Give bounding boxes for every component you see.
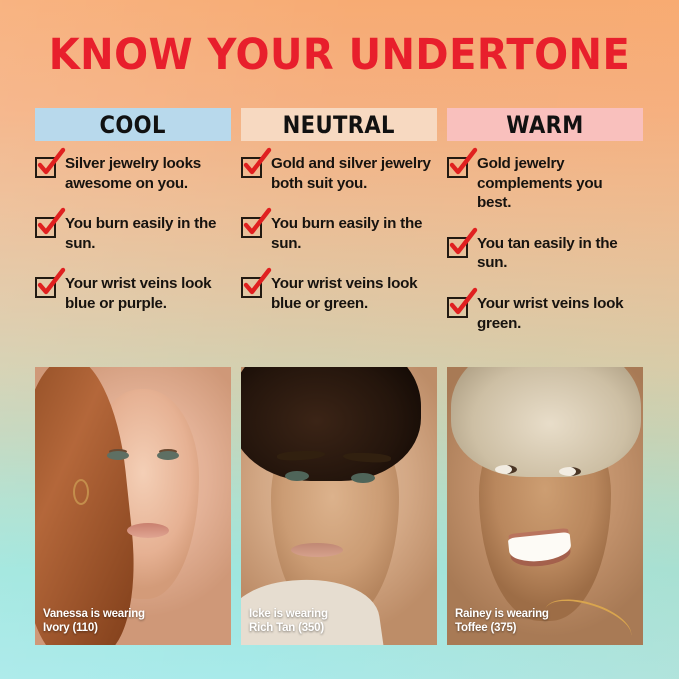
model-photos: Vanessa is wearing Ivory (110) Icke is w…: [35, 367, 644, 645]
column-cool: COOL Silver jewelry looks awesome on you…: [35, 108, 231, 354]
model-photo-rainey: Rainey is wearing Toffee (375): [447, 367, 643, 645]
checkbox-checked-icon[interactable]: [447, 157, 468, 178]
checklist-cool: Silver jewelry looks awesome on you. You…: [35, 154, 231, 314]
photo-caption-line2: Toffee (375): [455, 621, 549, 635]
checkbox-checked-icon[interactable]: [35, 217, 56, 238]
lips: [127, 523, 169, 538]
model-photo-icke: Icke is wearing Rich Tan (350): [241, 367, 437, 645]
column-warm: WARM Gold jewelry complements you best. …: [447, 108, 643, 354]
list-item[interactable]: Your wrist veins look green.: [447, 294, 643, 333]
list-item[interactable]: Your wrist veins look blue or purple.: [35, 274, 231, 313]
lips: [291, 543, 343, 557]
photo-caption: Vanessa is wearing Ivory (110): [43, 607, 145, 635]
list-item[interactable]: You tan easily in the sun.: [447, 234, 643, 273]
list-item[interactable]: You burn easily in the sun.: [35, 214, 231, 253]
list-item-text: Your wrist veins look blue or green.: [271, 274, 434, 313]
eye-left: [285, 471, 309, 481]
column-header-warm: WARM: [447, 108, 643, 141]
photo-caption: Rainey is wearing Toffee (375): [455, 607, 549, 635]
checkbox-checked-icon[interactable]: [447, 297, 468, 318]
undertone-columns: COOL Silver jewelry looks awesome on you…: [35, 108, 644, 354]
eye-left: [107, 451, 129, 460]
checkbox-checked-icon[interactable]: [35, 277, 56, 298]
photo-caption-line2: Rich Tan (350): [249, 621, 328, 635]
eye-right: [559, 467, 581, 476]
list-item[interactable]: Gold and silver jewelry both suit you.: [241, 154, 437, 193]
checklist-neutral: Gold and silver jewelry both suit you. Y…: [241, 154, 437, 314]
list-item-text: You burn easily in the sun.: [65, 214, 228, 253]
hair: [241, 367, 421, 481]
photo-caption-line2: Ivory (110): [43, 621, 145, 635]
photo-caption: Icke is wearing Rich Tan (350): [249, 607, 328, 635]
column-header-cool: COOL: [35, 108, 231, 141]
list-item-text: Your wrist veins look green.: [477, 294, 640, 333]
list-item-text: Gold jewelry complements you best.: [477, 154, 640, 213]
model-photo-vanessa: Vanessa is wearing Ivory (110): [35, 367, 231, 645]
checkbox-checked-icon[interactable]: [241, 157, 262, 178]
column-header-neutral: NEUTRAL: [241, 108, 437, 141]
eye-left: [495, 465, 517, 474]
eye-right: [157, 451, 179, 460]
list-item[interactable]: Silver jewelry looks awesome on you.: [35, 154, 231, 193]
hair: [451, 367, 641, 477]
list-item[interactable]: You burn easily in the sun.: [241, 214, 437, 253]
column-neutral: NEUTRAL Gold and silver jewelry both sui…: [241, 108, 437, 354]
checkbox-checked-icon[interactable]: [241, 217, 262, 238]
list-item[interactable]: Gold jewelry complements you best.: [447, 154, 643, 213]
photo-caption-line1: Vanessa is wearing: [43, 607, 145, 621]
checkbox-checked-icon[interactable]: [241, 277, 262, 298]
eye-right: [351, 473, 375, 483]
photo-caption-line1: Rainey is wearing: [455, 607, 549, 621]
column-header-cool-label: COOL: [100, 111, 166, 139]
list-item-text: Silver jewelry looks awesome on you.: [65, 154, 228, 193]
checklist-warm: Gold jewelry complements you best. You t…: [447, 154, 643, 333]
photo-caption-line1: Icke is wearing: [249, 607, 328, 621]
checkbox-checked-icon[interactable]: [447, 237, 468, 258]
hoop-earring: [73, 479, 89, 505]
checkbox-checked-icon[interactable]: [35, 157, 56, 178]
column-header-warm-label: WARM: [506, 111, 583, 139]
page-title: KNOW YOUR UNDERTONE: [24, 34, 655, 77]
list-item-text: Gold and silver jewelry both suit you.: [271, 154, 434, 193]
list-item-text: Your wrist veins look blue or purple.: [65, 274, 228, 313]
list-item-text: You tan easily in the sun.: [477, 234, 640, 273]
column-header-neutral-label: NEUTRAL: [283, 111, 395, 139]
list-item[interactable]: Your wrist veins look blue or green.: [241, 274, 437, 313]
list-item-text: You burn easily in the sun.: [271, 214, 434, 253]
